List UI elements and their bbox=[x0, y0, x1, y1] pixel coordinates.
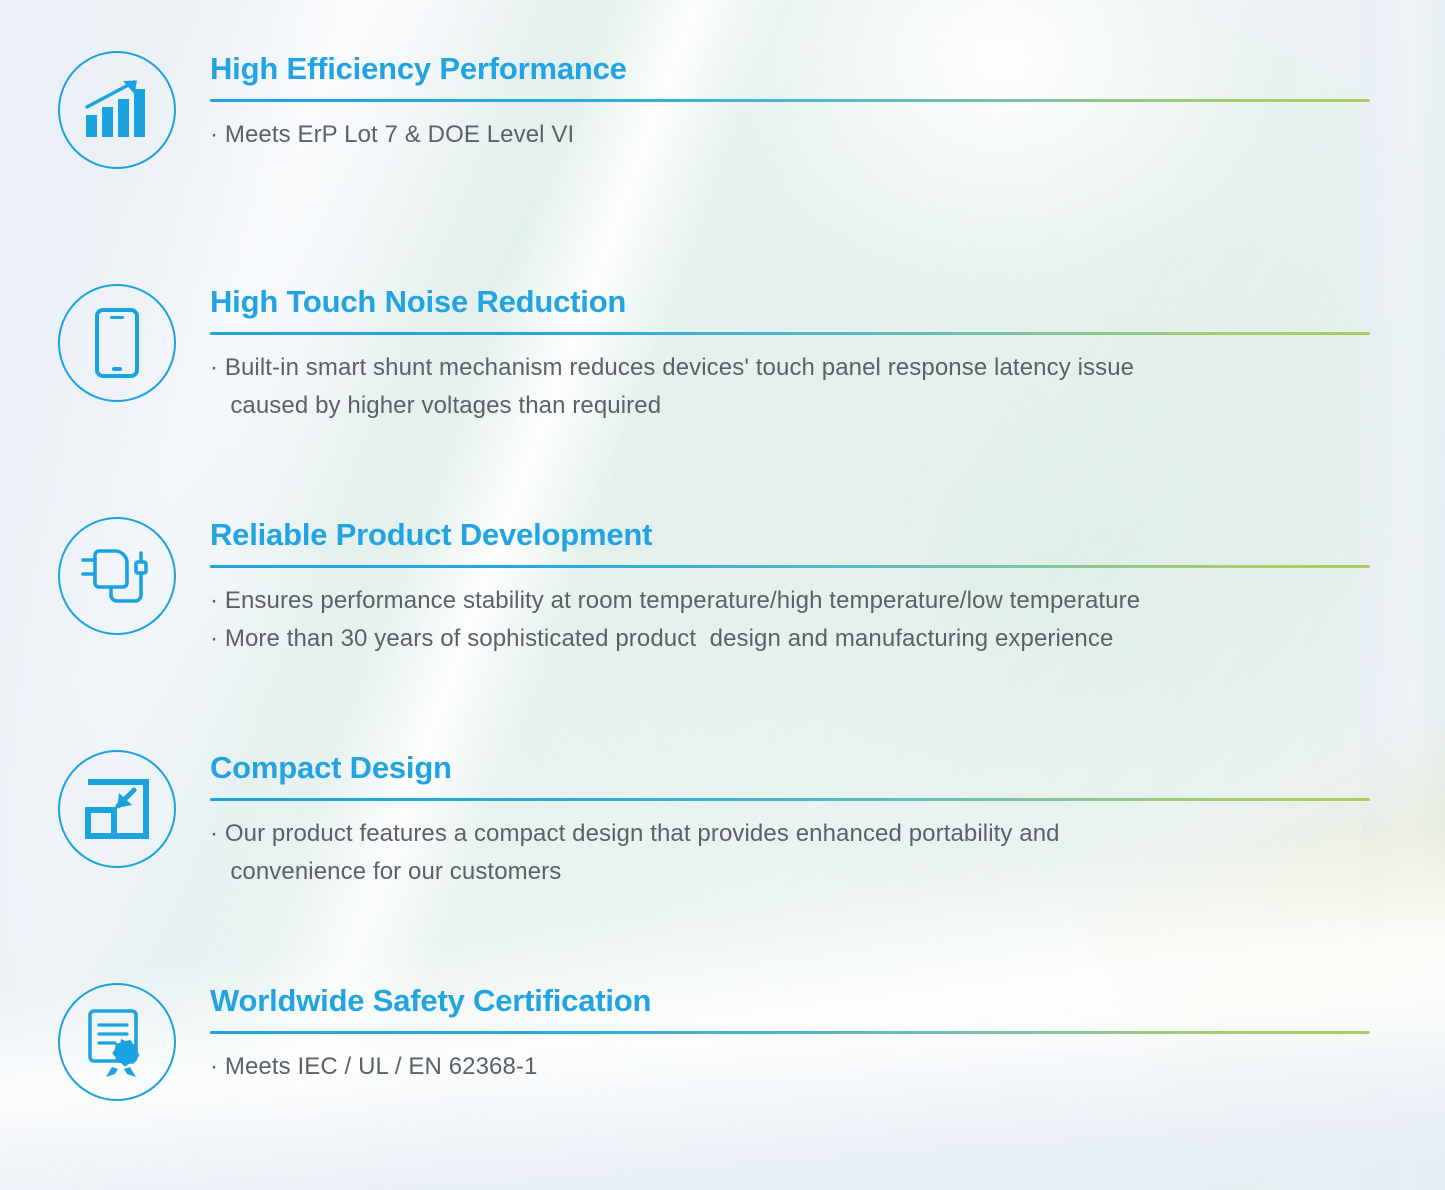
feature-body: Worldwide Safety Certification · Meets I… bbox=[210, 982, 1375, 1086]
compact-resize-icon bbox=[58, 750, 176, 868]
feature-row: High Touch Noise Reduction · Built-in sm… bbox=[0, 283, 1445, 503]
feature-title: Reliable Product Development bbox=[210, 516, 1375, 554]
feature-body: Reliable Product Development · Ensures p… bbox=[210, 516, 1375, 658]
feature-icon-wrap bbox=[57, 516, 177, 636]
feature-divider bbox=[210, 565, 1370, 568]
feature-icon-wrap bbox=[57, 749, 177, 869]
feature-row: High Efficiency Performance · Meets ErP … bbox=[0, 50, 1445, 270]
feature-body: Compact Design · Our product features a … bbox=[210, 749, 1375, 891]
feature-icon-wrap bbox=[57, 50, 177, 170]
feature-line: · Our product features a compact design … bbox=[210, 815, 1375, 853]
feature-lines: · Ensures performance stability at room … bbox=[210, 582, 1375, 658]
feature-line: caused by higher voltages than required bbox=[210, 387, 1375, 425]
feature-body: High Touch Noise Reduction · Built-in sm… bbox=[210, 283, 1375, 425]
feature-line: · Ensures performance stability at room … bbox=[210, 582, 1375, 620]
feature-line: convenience for our customers bbox=[210, 853, 1375, 891]
power-adapter-icon bbox=[58, 517, 176, 635]
feature-line: · More than 30 years of sophisticated pr… bbox=[210, 620, 1375, 658]
feature-divider bbox=[210, 332, 1370, 335]
bar-chart-growth-icon bbox=[58, 51, 176, 169]
feature-highlights-page: High Efficiency Performance · Meets ErP … bbox=[0, 0, 1445, 1190]
feature-title: High Efficiency Performance bbox=[210, 50, 1375, 88]
feature-lines: · Our product features a compact design … bbox=[210, 815, 1375, 891]
feature-title: High Touch Noise Reduction bbox=[210, 283, 1375, 321]
feature-lines: · Meets ErP Lot 7 & DOE Level VI bbox=[210, 116, 1375, 154]
feature-row: Reliable Product Development · Ensures p… bbox=[0, 516, 1445, 736]
feature-divider bbox=[210, 798, 1370, 801]
certificate-seal-icon bbox=[58, 983, 176, 1101]
feature-lines: · Built-in smart shunt mechanism reduces… bbox=[210, 349, 1375, 425]
feature-lines: · Meets IEC / UL / EN 62368-1 bbox=[210, 1048, 1375, 1086]
feature-line: · Built-in smart shunt mechanism reduces… bbox=[210, 349, 1375, 387]
feature-title: Worldwide Safety Certification bbox=[210, 982, 1375, 1020]
feature-divider bbox=[210, 99, 1370, 102]
feature-icon-wrap bbox=[57, 982, 177, 1102]
feature-icon-wrap bbox=[57, 283, 177, 403]
feature-row: Worldwide Safety Certification · Meets I… bbox=[0, 982, 1445, 1190]
feature-row: Compact Design · Our product features a … bbox=[0, 749, 1445, 969]
smartphone-icon bbox=[58, 284, 176, 402]
feature-list: High Efficiency Performance · Meets ErP … bbox=[0, 0, 1445, 1190]
feature-line: · Meets ErP Lot 7 & DOE Level VI bbox=[210, 116, 1375, 154]
feature-body: High Efficiency Performance · Meets ErP … bbox=[210, 50, 1375, 154]
feature-divider bbox=[210, 1031, 1370, 1034]
feature-line: · Meets IEC / UL / EN 62368-1 bbox=[210, 1048, 1375, 1086]
feature-title: Compact Design bbox=[210, 749, 1375, 787]
